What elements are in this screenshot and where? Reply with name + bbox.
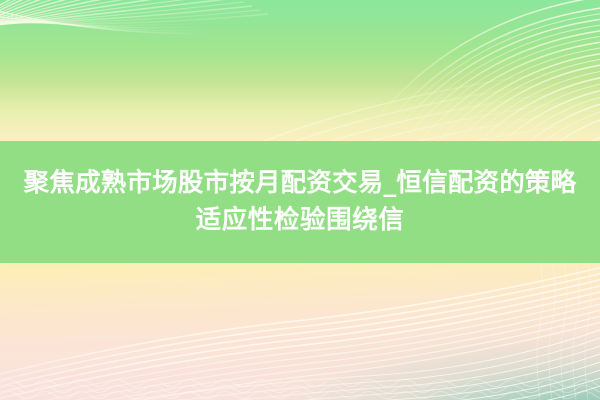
title-band: 聚焦成熟市场股市按月配资交易_恒信配资的策略 适应性检验围绕信 bbox=[0, 141, 600, 263]
title-line-1: 聚焦成熟市场股市按月配资交易_恒信配资的策略 bbox=[20, 165, 580, 202]
banner-image: 聚焦成熟市场股市按月配资交易_恒信配资的策略 适应性检验围绕信 bbox=[0, 0, 600, 400]
concentric-arc-lines-icon bbox=[0, 0, 600, 141]
flowing-wave-lines-icon bbox=[0, 263, 600, 400]
bottom-gradient-panel bbox=[0, 263, 600, 400]
title-line-2: 适应性检验围绕信 bbox=[20, 202, 580, 239]
page-title: 聚焦成熟市场股市按月配资交易_恒信配资的策略 适应性检验围绕信 bbox=[12, 165, 588, 239]
top-gradient-panel bbox=[0, 0, 600, 141]
